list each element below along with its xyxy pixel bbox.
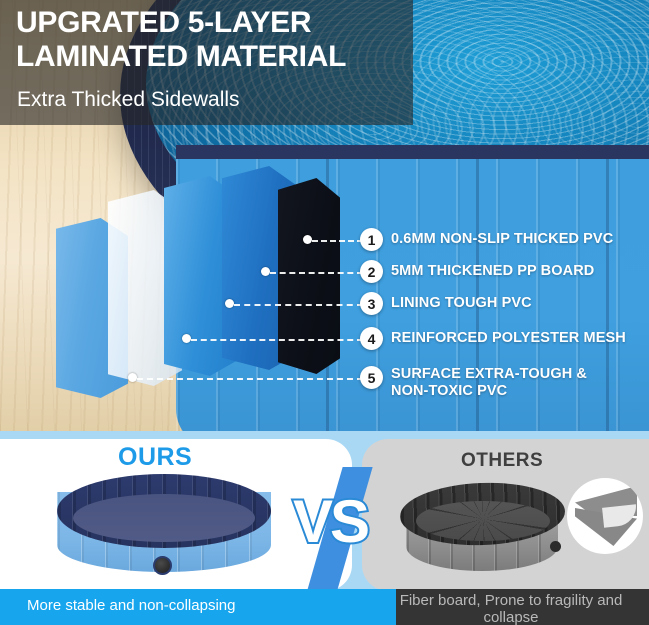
- top-feature-section: UPGRATED 5-LAYER LAMINATED MATERIAL Extr…: [0, 0, 649, 431]
- callout-label-3: LINING TOUGH PVC: [391, 295, 532, 312]
- ours-pool-floor: [73, 494, 255, 542]
- peel-curl: [602, 504, 638, 527]
- callout-label-1: 0.6MM NON-SLIP THICKED PVC: [391, 231, 613, 248]
- callout-dot-1: [303, 235, 312, 244]
- callout-label-4: REINFORCED POLYESTER MESH: [391, 330, 626, 347]
- callout-dot-4: [182, 334, 191, 343]
- callout-line-1: [312, 240, 363, 242]
- others-title: OTHERS: [461, 450, 543, 472]
- callout-number-1: 1: [360, 228, 383, 251]
- others-pool-drain-plug: [550, 541, 561, 552]
- callout-line-5: [137, 378, 363, 380]
- callout-number-4: 4: [360, 327, 383, 350]
- layer-callout-list: 1 0.6MM NON-SLIP THICKED PVC 2 5MM THICK…: [0, 0, 649, 431]
- callout-row-2: 2 5MM THICKENED PP BOARD: [360, 260, 594, 283]
- callout-number-3: 3: [360, 292, 383, 315]
- callout-number-2: 2: [360, 260, 383, 283]
- callout-row-4: 4 REINFORCED POLYESTER MESH: [360, 327, 626, 350]
- fiber-peel-inset: [567, 478, 643, 554]
- product-infographic: UPGRATED 5-LAYER LAMINATED MATERIAL Extr…: [0, 0, 649, 625]
- ours-pool-drain-plug: [153, 556, 172, 575]
- others-caption-text: Fiber board, Prone to fragility and coll…: [380, 592, 642, 625]
- others-pool-floor: [416, 501, 550, 541]
- callout-label-5: SURFACE EXTRA-TOUGH & NON-TOXIC PVC: [391, 366, 587, 400]
- others-pool-illustration: [400, 483, 565, 581]
- callout-number-5: 5: [360, 366, 383, 389]
- callout-dot-5: [128, 373, 137, 382]
- callout-row-1: 1 0.6MM NON-SLIP THICKED PVC: [360, 228, 613, 251]
- callout-line-4: [191, 339, 363, 341]
- callout-label-2: 5MM THICKENED PP BOARD: [391, 263, 594, 280]
- callout-line-2: [270, 272, 363, 274]
- ours-caption-text: More stable and non-collapsing: [27, 597, 235, 614]
- callout-dot-2: [261, 267, 270, 276]
- callout-line-3: [234, 304, 363, 306]
- vs-badge: VS: [293, 487, 367, 556]
- ours-pool-illustration: [57, 474, 271, 582]
- callout-dot-3: [225, 299, 234, 308]
- ours-title: OURS: [118, 443, 192, 472]
- callout-row-5: 5 SURFACE EXTRA-TOUGH & NON-TOXIC PVC: [360, 366, 587, 400]
- callout-row-3: 3 LINING TOUGH PVC: [360, 292, 532, 315]
